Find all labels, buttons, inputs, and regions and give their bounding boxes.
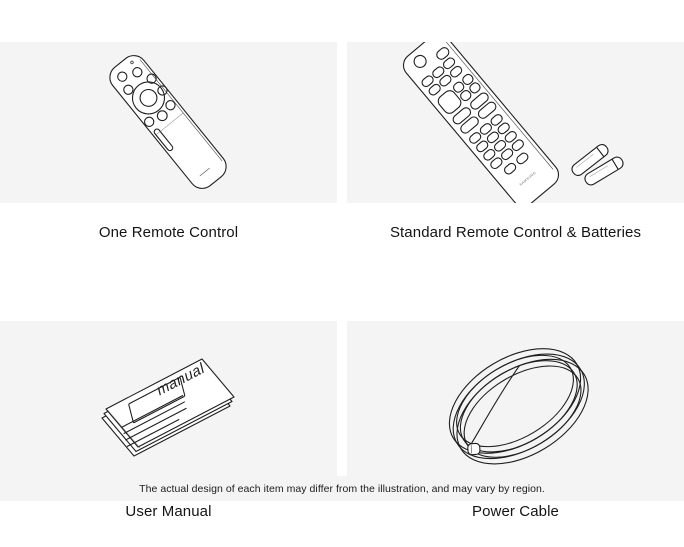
standard-remote-control-batteries-illustration: SAMSUNG — [347, 42, 684, 203]
footnote-band: The actual design of each item may diffe… — [0, 476, 684, 501]
one-remote-control-figure — [0, 42, 337, 203]
footnote-text: The actual design of each item may diffe… — [139, 483, 545, 495]
one-remote-control-illustration — [0, 42, 337, 203]
accessories-row-2: manual — [0, 321, 684, 541]
accessory-card-standard-remote-control: SAMSUNG — [347, 42, 684, 262]
accessories-row-1: One Remote Control — [0, 42, 684, 262]
accessory-card-power-cable: Power Cable — [347, 321, 684, 541]
power-cable-illustration — [347, 321, 684, 482]
accessories-grid: One Remote Control — [0, 42, 684, 541]
accessories-page: One Remote Control — [0, 0, 684, 547]
accessory-label-one-remote-control: One Remote Control — [0, 203, 337, 262]
standard-remote-control-batteries-figure: SAMSUNG — [347, 42, 684, 203]
accessory-label-standard-remote-control: Standard Remote Control & Batteries — [347, 203, 684, 262]
accessory-card-one-remote-control: One Remote Control — [0, 42, 337, 262]
power-cable-figure — [347, 321, 684, 482]
user-manual-illustration: manual — [0, 321, 337, 482]
accessory-card-user-manual: manual — [0, 321, 337, 541]
user-manual-figure: manual — [0, 321, 337, 482]
